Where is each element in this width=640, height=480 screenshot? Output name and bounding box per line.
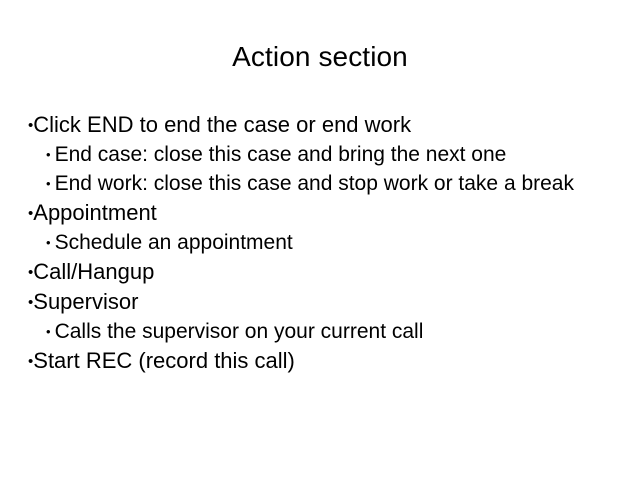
list-item: •Supervisor <box>28 287 622 317</box>
list-item: •Click END to end the case or end work <box>28 110 622 140</box>
list-item-label: Start REC (record this call) <box>33 348 295 373</box>
list-item-label: Calls the supervisor on your current cal… <box>55 320 424 343</box>
list-item-label: End work: close this case and stop work … <box>55 172 574 195</box>
bullet-icon: • <box>46 147 51 162</box>
bullet-list: •Click END to end the case or end work •… <box>28 110 622 376</box>
slide-canvas: Action section •Click END to end the cas… <box>0 0 640 480</box>
list-item: •Call/Hangup <box>28 257 622 287</box>
list-item: •Appointment <box>28 198 622 228</box>
list-item-label: Click END to end the case or end work <box>33 112 411 137</box>
bullet-icon: • <box>46 235 51 250</box>
list-item: •End work: close this case and stop work… <box>28 169 622 198</box>
bullet-icon: • <box>46 176 51 191</box>
list-item: •End case: close this case and bring the… <box>28 140 622 169</box>
bullet-icon: • <box>46 324 51 339</box>
list-item-label: Supervisor <box>33 289 138 314</box>
list-item-label: End case: close this case and bring the … <box>55 143 507 166</box>
list-item: •Schedule an appointment <box>28 228 622 257</box>
list-item: •Calls the supervisor on your current ca… <box>28 317 622 346</box>
list-item-label: Call/Hangup <box>33 259 154 284</box>
list-item-label: Appointment <box>33 200 157 225</box>
list-item-label: Schedule an appointment <box>55 231 293 254</box>
list-item: •Start REC (record this call) <box>28 346 622 376</box>
page-title: Action section <box>0 40 640 74</box>
